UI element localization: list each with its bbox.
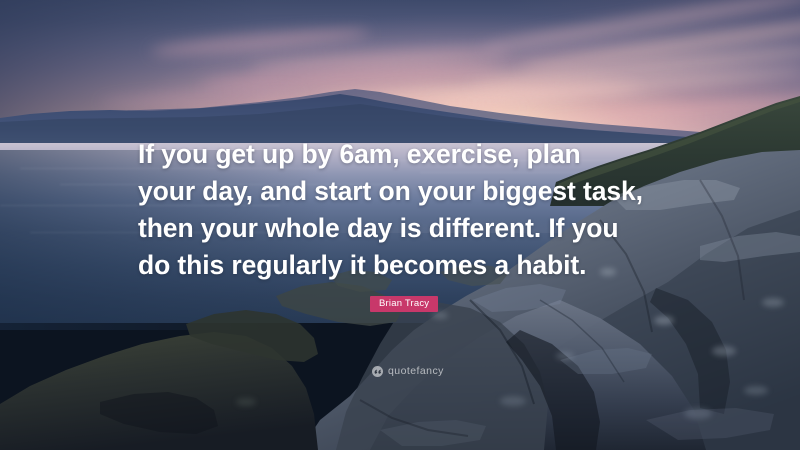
quote-line: then your whole day is different. If you bbox=[138, 210, 686, 247]
quote-line: do this regularly it becomes a habit. bbox=[138, 247, 686, 284]
watermark[interactable]: quotefancy bbox=[372, 366, 444, 377]
quote-mark-icon bbox=[372, 366, 383, 377]
author-badge[interactable]: Brian Tracy bbox=[370, 296, 438, 312]
quote-line: If you get up by 6am, exercise, plan bbox=[138, 136, 686, 173]
quote-image: If you get up by 6am, exercise, plan you… bbox=[0, 0, 800, 450]
watermark-label: quotefancy bbox=[388, 366, 444, 377]
quote-text-block: If you get up by 6am, exercise, plan you… bbox=[138, 136, 686, 284]
quote-line: your day, and start on your biggest task… bbox=[138, 173, 686, 210]
